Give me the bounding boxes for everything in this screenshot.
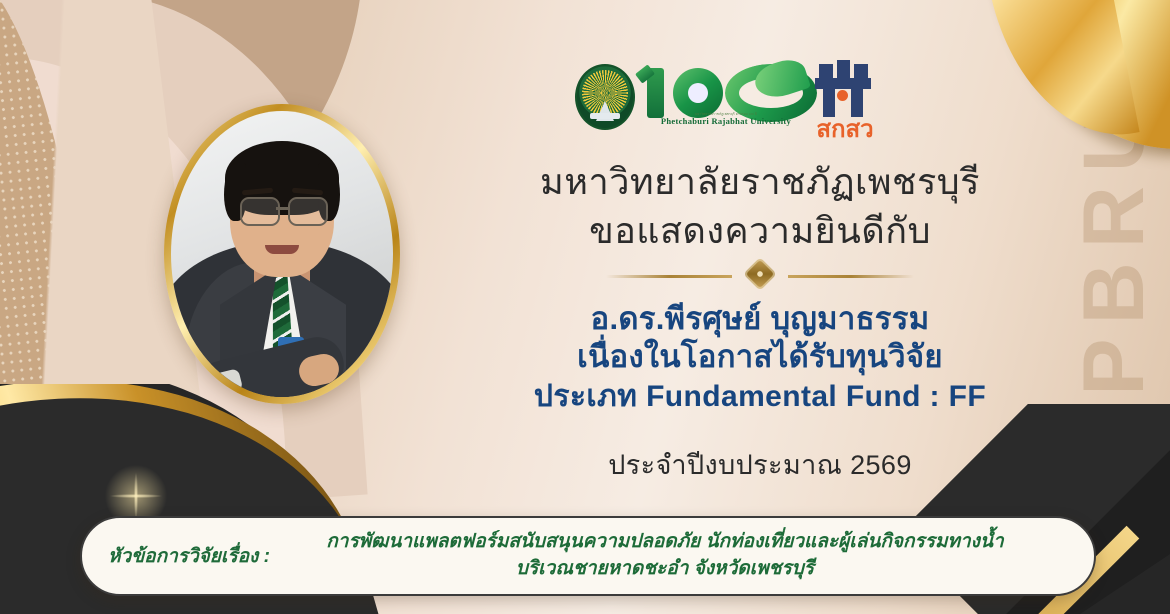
occasion-text: เนื่องในโอกาสได้รับทุนวิจัย: [430, 338, 1090, 376]
research-topic-title: การพัฒนาแพลตฟอร์มสนับสนุนความปลอดภัย นัก…: [286, 529, 1068, 583]
heading-line-2: ขอแสดงความยินดีกับ: [430, 207, 1090, 256]
diamond-ornament-icon: [743, 257, 777, 291]
gold-corner-decoration: [980, 0, 1170, 175]
university-seal-icon: [575, 64, 635, 130]
ornamental-divider: [430, 262, 1090, 290]
avatar: [171, 111, 393, 397]
portrait-gold-frame: [164, 104, 400, 404]
tsri-logo: สกสว: [797, 60, 893, 156]
congratulations-banner: PBRU: [0, 0, 1170, 614]
honoree-block: อ.ดร.พีรศุษย์ บุญมาธรรม เนื่องในโอกาสได้…: [430, 300, 1090, 416]
page-title: มหาวิทยาลัยราชภัฏเพชรบุรี ขอแสดงความยินด…: [430, 158, 1090, 255]
research-topic-label: หัวข้อการวิจัยเรื่อง :: [108, 541, 286, 571]
tsri-mark-icon: [815, 60, 877, 122]
research-topic-line-2: บริเวณชายหาดชะอำ จังหวัดเพชรบุรี: [286, 556, 1044, 583]
tsri-abbrev-label: สกสว: [797, 118, 893, 142]
university-name-en: Phetchaburi Rajabhat University: [631, 116, 821, 126]
research-topic-line-1: การพัฒนาแพลตฟอร์มสนับสนุนความปลอดภัย นัก…: [286, 529, 1044, 556]
research-topic-banner: หัวข้อการวิจัยเรื่อง : การพัฒนาแพลตฟอร์ม…: [80, 516, 1096, 596]
fiscal-year-text: ประจำปีงบประมาณ 2569: [430, 443, 1090, 486]
honoree-name: อ.ดร.พีรศุษย์ บุญมาธรรม: [430, 300, 1090, 338]
eyeglasses-icon: [240, 197, 280, 226]
fund-type-text: ประเภท Fundamental Fund : FF: [430, 377, 1090, 416]
logo-row: มหาวิทยาลัยราชภัฏเพชรบุรี ครบรอบ 100 ปี …: [575, 62, 895, 154]
heading-line-1: มหาวิทยาลัยราชภัฏเพชรบุรี: [430, 158, 1090, 207]
